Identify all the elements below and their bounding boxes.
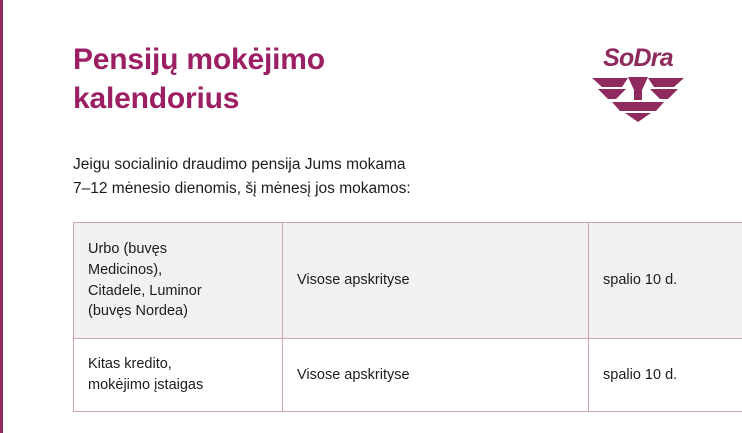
cell-institution: Kitas kredito, mokėjimo įstaigas [74,339,283,412]
sodra-wordmark: SoDra [586,46,690,71]
intro-paragraph: Jeigu socialinio draudimo pensija Jums m… [73,153,593,201]
payment-schedule-table: Urbo (buvęs Medicinos), Citadele, Lumino… [73,222,742,412]
cell-region: Visose apskrityse [283,223,589,339]
cell-date: spalio 10 d. [589,223,742,339]
sodra-logo: SoDra [586,46,690,122]
sodra-wing-triangle-emblem-icon [592,76,684,122]
table-row: Urbo (buvęs Medicinos), Citadele, Lumino… [74,223,742,339]
left-accent-bar [0,0,3,433]
page-title: Pensijų mokėjimo kalendorius [73,40,543,118]
table-row: Kitas kredito, mokėjimo įstaigas Visose … [74,339,742,412]
cell-region: Visose apskrityse [283,339,589,412]
cell-date: spalio 10 d. [589,339,742,412]
pension-payment-calendar-page: Pensijų mokėjimo kalendorius SoDra Jeigu… [0,0,742,433]
cell-institution: Urbo (buvęs Medicinos), Citadele, Lumino… [74,223,283,339]
